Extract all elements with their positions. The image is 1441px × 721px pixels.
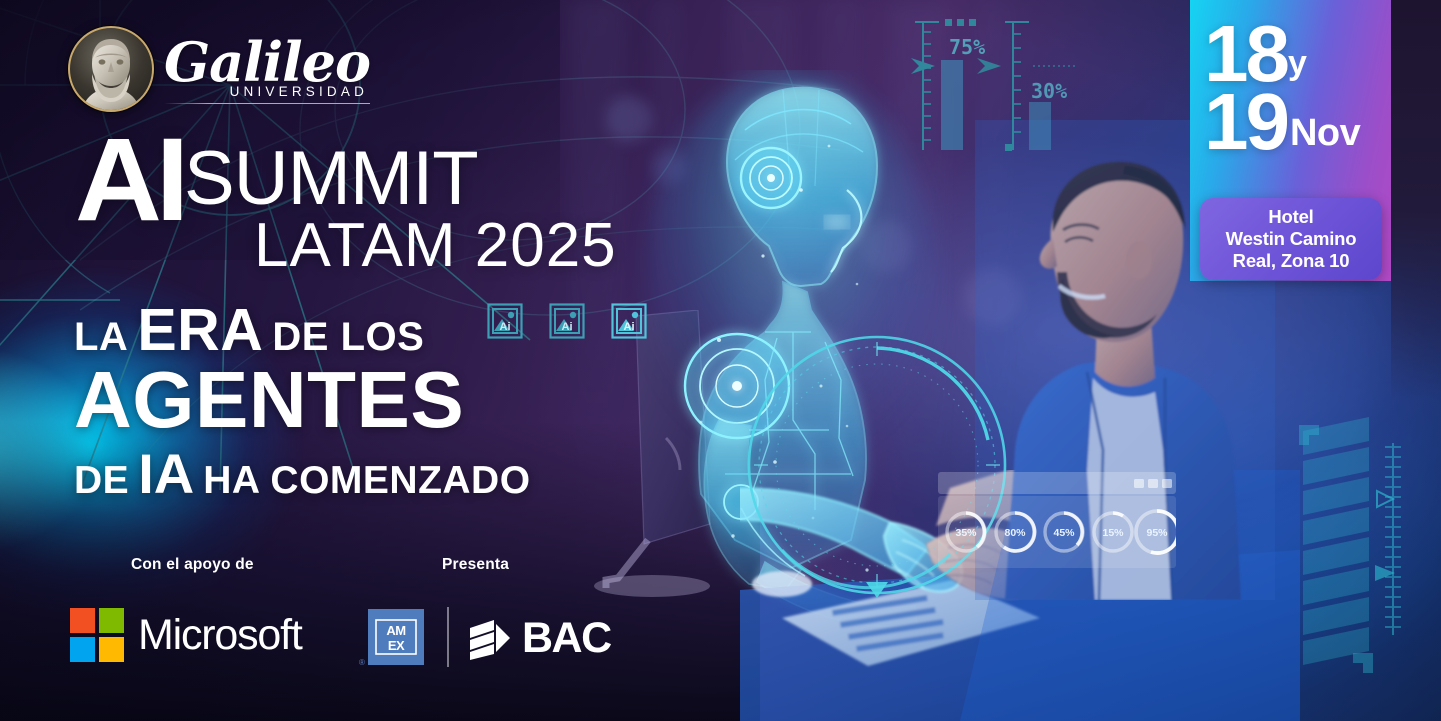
venue-badge[interactable]: Hotel Westin Camino Real, Zona 10 [1200,198,1382,280]
event-title: AI SUMMIT LATAM 2025 [76,132,617,277]
tagline-la: LA [74,315,128,360]
venue-line-1: Hotel [1206,206,1376,228]
gauge-value-2: 30% [1031,79,1067,103]
date-conjunction: y [1288,46,1307,80]
ring-gauge-value: 35% [955,527,977,539]
hud-stats-panel: 35% 80% 45% 15% [938,472,1176,568]
bac-mark-icon [468,618,512,660]
microsoft-wordmark: Microsoft [138,611,302,660]
amex-trademark: ® [359,658,365,667]
title-ai: AI [75,132,183,229]
event-date-panel: 18 y 19 Nov Hotel Westin Camino Real, Zo… [1190,0,1391,281]
right-edge-decoration [1281,395,1441,721]
amex-mark-icon: AM EX [375,619,417,655]
hud-bar-gauges: 75% 30% [905,10,1105,160]
tagline-ia: IA [138,441,194,506]
logo-rule [164,103,370,105]
galileo-university-logo[interactable]: Galileo UNIVERSIDAD [68,26,370,112]
ai-image-badge-icon: Ai [549,303,585,339]
right-dark-strip [1391,0,1441,400]
svg-text:Ai: Ai [562,321,573,333]
amex-logo[interactable]: ® AM EX [368,609,424,665]
sponsor-divider [447,607,449,667]
ring-gauge-value: 95% [1146,527,1168,539]
support-label: Con el apoyo de [131,556,254,574]
date-day-two: 19 [1204,90,1287,154]
title-latam-year: LATAM 2025 [254,215,617,277]
sponsors-section: Con el apoyo de Presenta Microsoft ® AM … [0,556,660,680]
venue-line-2: Westin Camino [1206,228,1376,250]
tagline-agentes: AGENTES [74,362,531,439]
ring-gauge-value: 45% [1053,527,1075,539]
venue-line-3: Real, Zona 10 [1206,250,1376,272]
tagline-de: DE [74,459,129,503]
tagline-era: ERA [137,296,263,364]
bac-logo[interactable]: BAC [468,614,611,663]
ring-gauge-value: 15% [1102,527,1124,539]
galileo-wordmark: Galileo UNIVERSIDAD [164,34,370,104]
svg-text:Ai: Ai [624,321,635,333]
bac-wordmark: BAC [522,614,611,663]
event-tagline: LA ERA DE LOS AGENTES DE IA HA COMENZADO [74,296,531,506]
tagline-ha-comenzado: HA COMENZADO [203,459,530,503]
gauge-value-1: 75% [949,35,985,59]
microsoft-squares-icon [70,608,124,662]
microsoft-logo[interactable]: Microsoft [70,608,302,662]
svg-text:AM: AM [386,623,405,638]
ai-image-badge-icon: Ai [611,303,647,339]
galileo-bust-medallion-icon [68,26,154,112]
title-summit: SUMMIT [184,140,478,218]
event-dates: 18 y 19 Nov [1204,22,1360,154]
presents-label: Presenta [442,556,509,574]
date-month: Nov [1290,114,1360,152]
event-banner: 75% 30% Ai Ai [0,0,1441,721]
tagline-de-los: DE LOS [272,315,424,360]
ring-gauge-value: 80% [1004,527,1026,539]
university-name: Galileo [164,38,370,88]
svg-text:EX: EX [388,638,405,653]
